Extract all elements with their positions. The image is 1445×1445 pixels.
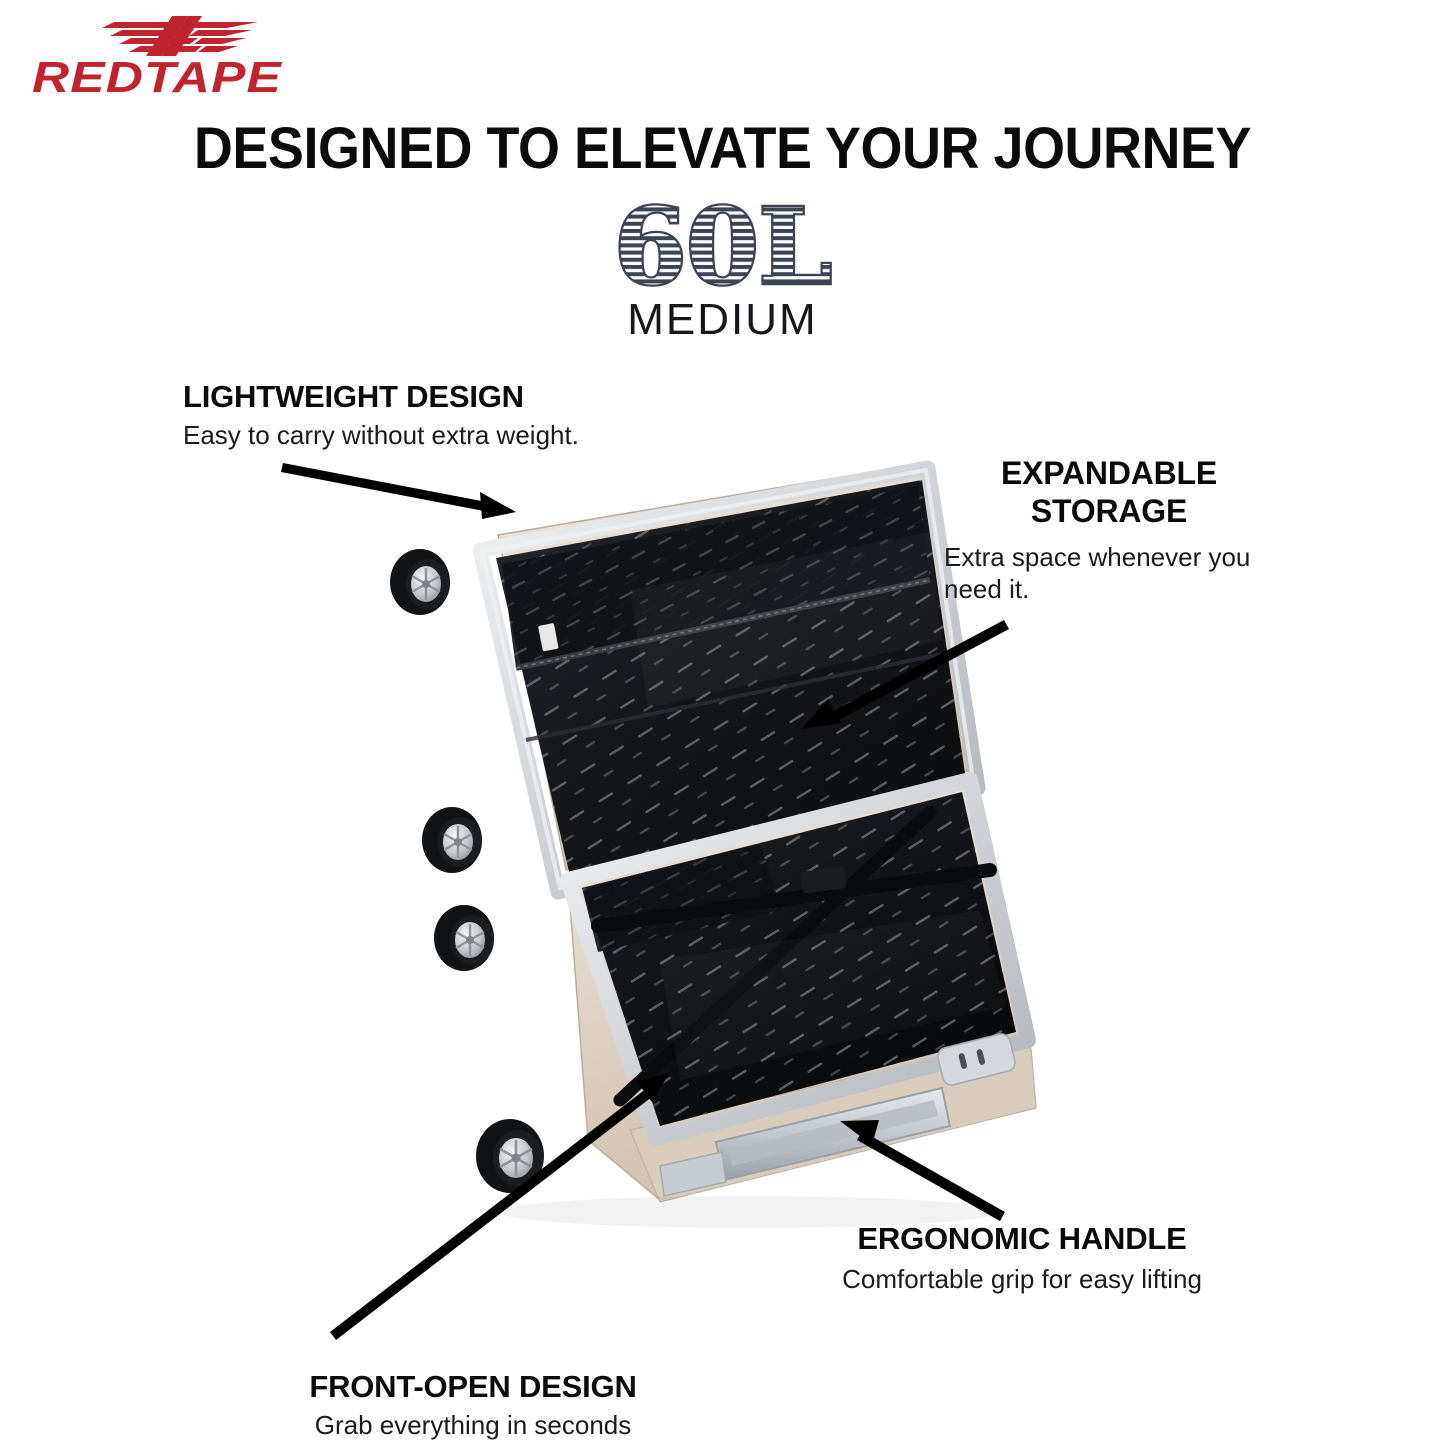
capacity-badge: 60L MEDIUM <box>0 193 1445 345</box>
callout-ergonomic-handle: ERGONOMIC HANDLE Comfortable grip for ea… <box>762 1222 1282 1295</box>
callout-title: EXPANDABLE STORAGE <box>944 455 1274 531</box>
callout-lightweight-design: LIGHTWEIGHT DESIGN Easy to carry without… <box>183 380 803 451</box>
callout-description: Extra space whenever you need it. <box>944 541 1274 607</box>
wheel <box>476 1119 544 1193</box>
callout-expandable-storage: EXPANDABLE STORAGE Extra space whenever … <box>944 455 1274 606</box>
svg-text:REDTAPE: REDTAPE <box>32 53 283 100</box>
wheel <box>422 807 482 873</box>
svg-text:60L: 60L <box>614 193 832 301</box>
redtape-logo: REDTAPE <box>22 8 292 100</box>
callout-front-open-design: FRONT-OPEN DESIGN Grab everything in sec… <box>248 1370 698 1441</box>
callout-description: Grab everything in seconds <box>248 1409 698 1442</box>
callout-title: ERGONOMIC HANDLE <box>762 1222 1282 1257</box>
callout-title: LIGHTWEIGHT DESIGN <box>183 380 803 415</box>
wheel <box>390 549 450 615</box>
page-title: DESIGNED TO ELEVATE YOUR JOURNEY <box>51 115 1395 182</box>
callout-description: Easy to carry without extra weight. <box>183 419 803 452</box>
infographic-canvas: REDTAPE DESIGNED TO ELEVATE YOUR JOURNEY… <box>0 0 1445 1445</box>
redtape-wordmark: REDTAPE <box>32 53 283 100</box>
capacity-value-graphic: 60L <box>0 193 1445 301</box>
redtape-wings-logo <box>102 16 258 56</box>
callout-title: FRONT-OPEN DESIGN <box>248 1370 698 1405</box>
capacity-size-label: MEDIUM <box>0 295 1445 345</box>
callout-description: Comfortable grip for easy lifting <box>762 1263 1282 1296</box>
wheel <box>434 905 494 971</box>
